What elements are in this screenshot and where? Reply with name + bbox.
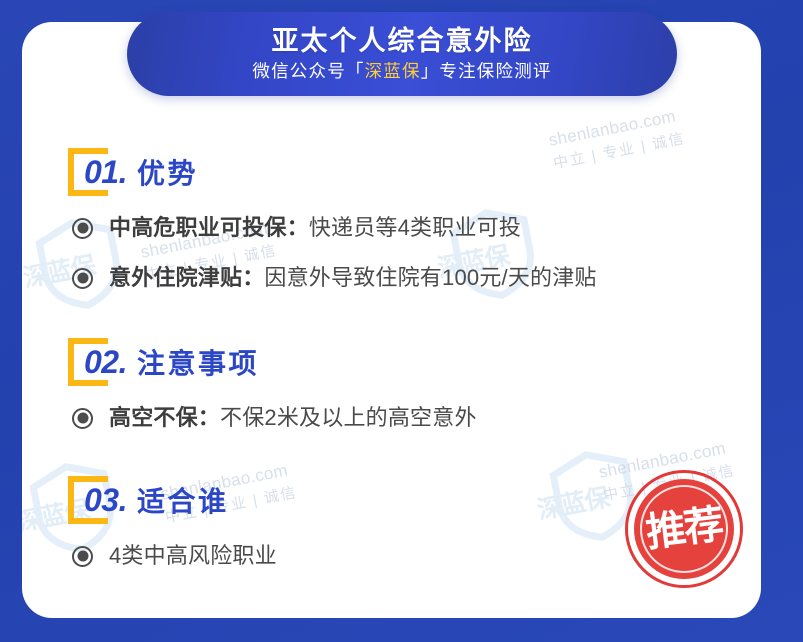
section-heading: 02. 注意事项 [50, 336, 761, 388]
list-item-text: 高空不保：不保2米及以上的高空意外 [109, 404, 477, 433]
bullet-dot-icon [72, 218, 93, 239]
list-item-text: 中高危职业可投保：快递员等4类职业可投 [109, 214, 521, 243]
list-item-text: 4类中高风险职业 [109, 542, 277, 571]
section-notes: 02. 注意事项 高空不保：不保2米及以上的高空意外 [50, 336, 761, 434]
section-heading: 01. 优势 [50, 146, 761, 198]
list-item-lead: 高空不保： [109, 405, 220, 430]
page-title: 亚太个人综合意外险 [272, 26, 533, 57]
list-item-rest: 4类中高风险职业 [109, 543, 277, 568]
section-number: 03. [84, 482, 127, 519]
section-title: 注意事项 [137, 342, 259, 382]
content-card: 深蓝保 shenlanbao.com 中立 | 专业 | 诚信 深蓝保 shen… [22, 22, 761, 618]
bullet-list: 中高危职业可投保：快递员等4类职业可投 意外住院津贴：因意外导致住院有100元/… [50, 212, 761, 294]
list-item-rest: 快递员等4类职业可投 [309, 215, 521, 240]
list-item: 意外住院津贴：因意外导致住院有100元/天的津贴 [72, 262, 761, 294]
subtitle-bracket-open: 「 [346, 61, 365, 81]
header-banner: 亚太个人综合意外险 微信公众号「深蓝保」专注保险测评 [127, 12, 677, 96]
list-item: 高空不保：不保2米及以上的高空意外 [72, 402, 761, 434]
page-subtitle: 微信公众号「深蓝保」专注保险测评 [252, 61, 551, 82]
bullet-dot-icon [72, 408, 93, 429]
stamp-disc: 推荐 [634, 479, 734, 579]
subtitle-brand: 深蓝保 [365, 61, 421, 81]
subtitle-prefix: 微信公众号 [252, 61, 346, 81]
list-item: 中高危职业可投保：快递员等4类职业可投 [72, 212, 761, 244]
section-title: 适合谁 [137, 480, 229, 520]
bullet-dot-icon [72, 546, 93, 567]
list-item-rest: 不保2米及以上的高空意外 [220, 405, 477, 430]
section-title: 优势 [137, 152, 198, 192]
list-item-text: 意外住院津贴：因意外导致住院有100元/天的津贴 [109, 264, 597, 293]
list-item-rest: 因意外导致住院有100元/天的津贴 [264, 265, 596, 290]
list-item-lead: 意外住院津贴： [109, 265, 264, 290]
list-item-lead: 中高危职业可投保： [109, 215, 309, 240]
bullet-dot-icon [72, 268, 93, 289]
poster-canvas: 深蓝保 shenlanbao.com 中立 | 专业 | 诚信 深蓝保 shen… [0, 0, 803, 642]
subtitle-suffix: 专注保险测评 [439, 61, 551, 81]
subtitle-bracket-close: 」 [421, 61, 440, 81]
section-number: 02. [84, 344, 127, 381]
section-advantages: 01. 优势 中高危职业可投保：快递员等4类职业可投 意外住院津贴：因意外导致住… [50, 146, 761, 294]
section-number: 01. [84, 154, 127, 191]
recommended-stamp: 推荐 [625, 470, 743, 588]
bullet-list: 高空不保：不保2米及以上的高空意外 [50, 402, 761, 434]
stamp-label: 推荐 [644, 505, 724, 554]
